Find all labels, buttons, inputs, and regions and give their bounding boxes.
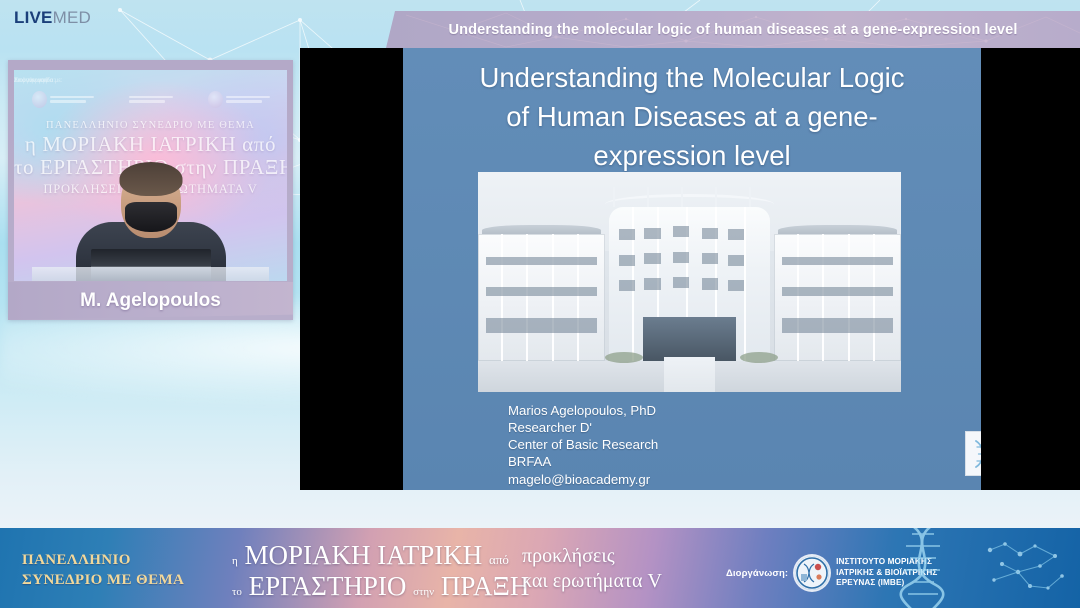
- footer-theme-main-2: ΕΡΓΑΣΤΗΡΙΟ: [249, 571, 407, 601]
- footer-theme-main-3: ΠΡΑΞΗ: [441, 571, 529, 601]
- logo-text-lines: [129, 96, 173, 103]
- footer-subtitle: προκλήσεις και ερωτήματα V: [522, 544, 662, 594]
- logo-text-lines: [226, 96, 270, 103]
- livemed-logo[interactable]: LIVEMED: [14, 8, 91, 28]
- photo-walkway: [664, 357, 715, 392]
- backdrop-line-0: ΠΑΝΕΛΛΗΝΙΟ ΣΥΝΕΔΡΙΟ ΜΕ ΘΕΜΑ: [14, 120, 287, 131]
- speaker-hair: [119, 162, 182, 196]
- backdrop-logo-3: Υπό την αιγίδα:: [208, 91, 270, 108]
- slide-title: Understanding the Molecular Logic of Hum…: [417, 58, 967, 175]
- speaker-face-mask: [125, 202, 177, 232]
- photo-wing-right: [774, 234, 901, 362]
- footer-congress-label: ΠΑΝΕΛΛΗΝΙΟ ΣΥΝΕΔΡΙΟ ΜΕ ΘΕΜΑ: [22, 550, 184, 591]
- backdrop-line-1: η ΜΟΡΙΑΚΗ ΙΑΤΡΙΚΗ από: [14, 132, 287, 157]
- footer-congress-theme: η ΜΟΡΙΑΚΗ ΙΑΤΡΙΚΗ από το ΕΡΓΑΣΤΗΡΙΟ στην…: [232, 542, 529, 600]
- footer-theme-prefix-2: το: [232, 586, 242, 598]
- imbe-logo-svg: [795, 556, 829, 590]
- footer-theme-main-1: ΜΟΡΙΑΚΗ ΙΑΤΡΙΚΗ: [245, 540, 483, 570]
- livestream-page: LIVEMED Understanding the molecular logi…: [0, 0, 1080, 608]
- conference-footer-banner: ΠΑΝΕΛΛΗΝΙΟ ΣΥΝΕΔΡΙΟ ΜΕ ΘΕΜΑ η ΜΟΡΙΑΚΗ ΙΑ…: [0, 528, 1080, 608]
- laptop: [91, 249, 211, 281]
- footer-theme-prefix-1: η: [232, 555, 238, 567]
- logo-text-lines: [50, 96, 94, 103]
- imbe-logo-icon: [795, 556, 829, 590]
- building-photo: [478, 172, 901, 392]
- webcam-video[interactable]: Διοργάνωση: Σε συνεργασία με: Υπό την αι…: [14, 70, 287, 281]
- footer-theme-line-2: το ΕΡΓΑΣΤΗΡΙΟ στην ΠΡΑΞΗ: [232, 573, 529, 601]
- brand-part-med: MED: [53, 8, 91, 27]
- session-title-text: Understanding the molecular logic of hum…: [448, 22, 1017, 38]
- dna-helix-icon: [971, 439, 981, 469]
- presentation-slide[interactable]: Understanding the Molecular Logic of Hum…: [403, 48, 981, 490]
- footer-theme-suffix-1: από: [489, 552, 509, 567]
- organizer-label: Διοργάνωση:: [726, 568, 788, 579]
- session-title-banner: Understanding the molecular logic of hum…: [386, 11, 1080, 48]
- footer-theme-mid-2: στην: [413, 586, 434, 598]
- dna-decoration-icon: [890, 528, 1080, 608]
- brand-part-live: LIVE: [14, 8, 53, 27]
- photo-wing-left: [478, 234, 605, 362]
- slide-speaker-details: Marios Agelopoulos, PhD Researcher Dʹ Ce…: [508, 402, 658, 488]
- backdrop-logo-2: Σε συνεργασία με:: [129, 96, 173, 103]
- iibeaa-logo: IIBEAA ΙΔΡΥΜΑ ΙΑΤΡΟΒΙΟΛΟΓΙΚΩΝ ΕΡΕΥΝΩΝ ΑΚ…: [965, 431, 981, 476]
- footer-theme-line-1: η ΜΟΡΙΑΚΗ ΙΑΤΡΙΚΗ από: [232, 542, 529, 570]
- organization-mark-icon: [208, 91, 223, 108]
- backdrop-logo-row: Διοργάνωση: Σε συνεργασία με: Υπό την αι…: [14, 84, 287, 114]
- backdrop-logo-tag-3: Υπό την αιγίδα:: [14, 78, 55, 84]
- shared-screen[interactable]: Understanding the Molecular Logic of Hum…: [300, 48, 1080, 490]
- organization-mark-icon: [32, 91, 47, 108]
- speaker-webcam-panel[interactable]: Διοργάνωση: Σε συνεργασία με: Υπό την αι…: [8, 60, 293, 320]
- backdrop-logo-1: Διοργάνωση:: [32, 91, 94, 108]
- speaker-name-label: M. Agelopoulos: [8, 282, 293, 320]
